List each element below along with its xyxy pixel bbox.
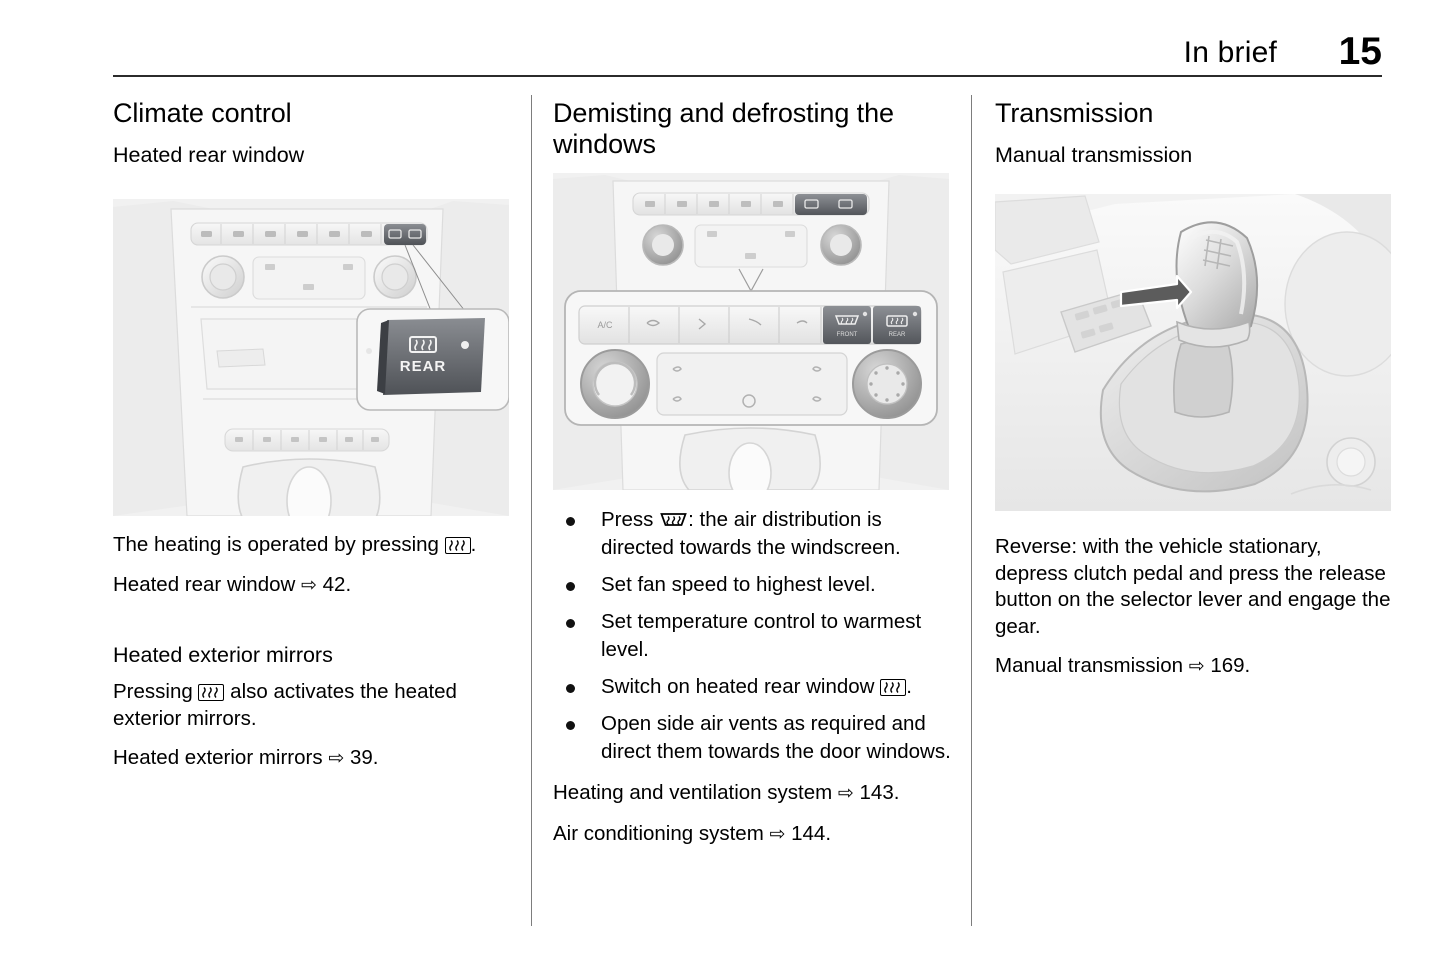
reference-arrow-icon: ⇨ <box>301 575 317 596</box>
text-fragment: The heating is operated by pressing <box>113 533 439 556</box>
column-right-body: Reverse: with the vehicle stationary, de… <box>995 534 1395 681</box>
reference-arrow-icon: ⇨ <box>770 824 786 845</box>
text-fragment: 39. <box>350 746 379 769</box>
text-fragment: Manual transmission <box>995 654 1183 677</box>
column-divider-2 <box>971 95 972 926</box>
figure-climate-control-panel-defrost: A/C FRONT <box>553 173 949 490</box>
text-fragment: Heated exterior mirrors <box>113 746 323 769</box>
subheading-heated-rear-window: Heated rear window <box>113 143 509 168</box>
rear-window-heater-icon <box>880 679 906 696</box>
text-fragment: 143. <box>860 781 900 804</box>
reference-heating-ventilation-system: Heating and ventilation system ⇨ 143. <box>553 780 957 808</box>
svg-text:REAR: REAR <box>889 332 906 338</box>
section-title-transmission: Transmission <box>995 98 1391 129</box>
reference-air-conditioning-system: Air conditioning system ⇨ 144. <box>553 821 957 849</box>
text-fragment: Pressing <box>113 680 193 703</box>
text-fragment: Press <box>601 508 653 531</box>
defrost-steps-list: Press : the air distribution is directed… <box>553 506 957 766</box>
text-fragment: Switch on heated rear window <box>601 675 875 698</box>
manual-page: In brief 15 Climate control Heated rear … <box>0 0 1445 965</box>
text-fragment: Heated rear window <box>113 573 295 596</box>
text-fragment: . <box>906 675 912 698</box>
list-item: Set fan speed to highest level. <box>553 571 957 599</box>
section-title-demisting-defrosting: Demisting and defrosting the windows <box>553 98 949 160</box>
svg-text:A/C: A/C <box>597 320 613 330</box>
windscreen-defrost-icon <box>659 511 688 529</box>
text-fragment: 42. <box>323 573 352 596</box>
subheading-heated-exterior-mirrors: Heated exterior mirrors <box>113 643 513 668</box>
header-divider <box>113 75 1382 77</box>
page-number: 15 <box>1339 30 1382 74</box>
text-fragment: Air conditioning system <box>553 822 764 845</box>
reference-heated-rear-window: Heated rear window ⇨ 42. <box>113 572 513 600</box>
column-divider-1 <box>531 95 532 926</box>
text-fragment: 169. <box>1210 654 1250 677</box>
rear-window-heater-icon <box>198 684 224 701</box>
list-item: Set temperature control to warmest level… <box>553 608 957 664</box>
list-item: Switch on heated rear window . <box>553 673 957 701</box>
paragraph-reverse-instructions: Reverse: with the vehicle stationary, de… <box>995 534 1395 640</box>
list-item: Press : the air distribution is directed… <box>553 506 957 562</box>
text-fragment: Heating and ventilation system <box>553 781 832 804</box>
text-fragment: 144. <box>791 822 831 845</box>
column-middle-body: Press : the air distribution is directed… <box>553 506 957 848</box>
svg-text:REAR: REAR <box>400 358 447 375</box>
list-item: Open side air vents as required and dire… <box>553 710 957 766</box>
column-left: Climate control Heated rear window <box>113 98 509 179</box>
reference-arrow-icon: ⇨ <box>1189 656 1205 677</box>
column-left-body: The heating is operated by pressing . He… <box>113 532 513 599</box>
section-title-climate-control: Climate control <box>113 98 509 129</box>
reference-heated-exterior-mirrors: Heated exterior mirrors ⇨ 39. <box>113 745 513 773</box>
column-right: Transmission Manual transmission <box>995 98 1391 179</box>
column-middle: Demisting and defrosting the windows <box>553 98 949 174</box>
paragraph-pressing-activates-mirrors: Pressing also activates the heated exter… <box>113 679 513 732</box>
reference-arrow-icon: ⇨ <box>328 748 344 769</box>
page-header: In brief 15 <box>113 36 1382 76</box>
text-fragment: . <box>471 533 477 556</box>
reference-arrow-icon: ⇨ <box>838 783 854 804</box>
page-title: In brief <box>1184 36 1277 70</box>
subheading-manual-transmission: Manual transmission <box>995 143 1391 168</box>
paragraph-heating-operated: The heating is operated by pressing . <box>113 532 513 559</box>
figure-centre-console-heated-rear-window: REAR <box>113 199 509 516</box>
rear-window-heater-icon <box>445 537 471 554</box>
svg-text:FRONT: FRONT <box>837 332 858 338</box>
figure-manual-gear-selector-lever <box>995 194 1391 511</box>
reference-manual-transmission: Manual transmission ⇨ 169. <box>995 653 1395 681</box>
column-left-body-2: Heated exterior mirrors Pressing also ac… <box>113 643 513 773</box>
